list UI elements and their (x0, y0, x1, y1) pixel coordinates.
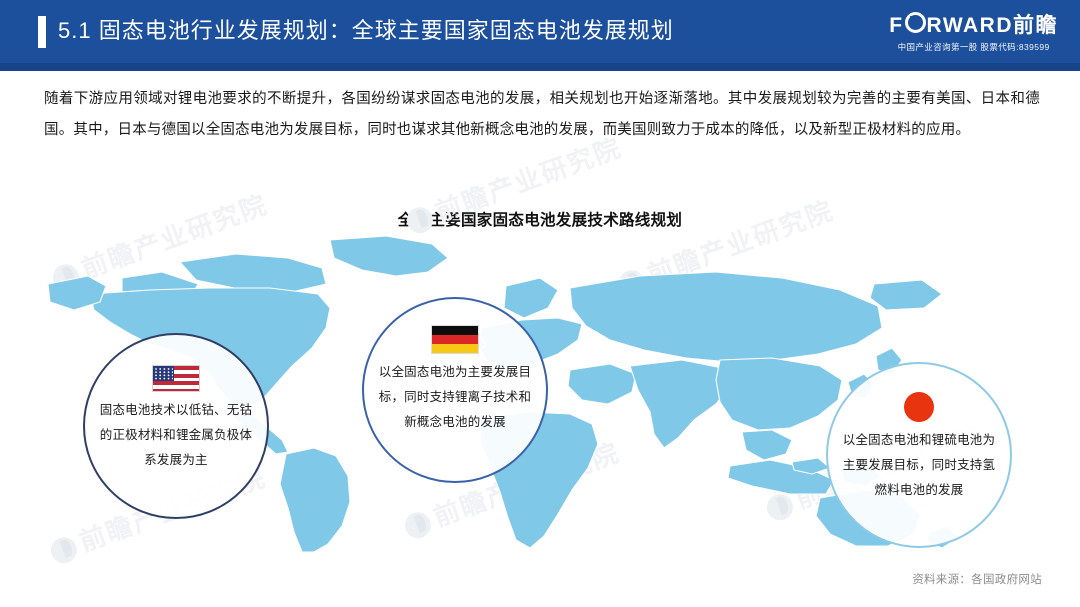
marker-bubble-us[interactable]: 固态电池技术以低钴、无钴的正极材料和锂金属负极体系发展为主 (83, 333, 269, 519)
us-flag-icon (152, 365, 200, 392)
logo-o-ring-icon (905, 12, 926, 33)
chart-title: 全球主要国家固态电池发展技术路线规划 (0, 208, 1080, 230)
logo-text-left: F (889, 14, 903, 37)
page-title: 5.1 固态电池行业发展规划：全球主要国家固态电池发展规划 (58, 14, 674, 48)
body-paragraph: 随着下游应用领域对锂电池要求的不断提升，各国纷纷谋求固态电池的发展，相关规划也开… (44, 84, 1040, 146)
logo-wordmark: FRWARD前瞻 (889, 12, 1058, 38)
slide-header: 5.1 固态电池行业发展规划：全球主要国家固态电池发展规划 FRWARD前瞻 中… (0, 0, 1080, 63)
marker-text-us: 固态电池技术以低钴、无钴的正极材料和锂金属负极体系发展为主 (98, 398, 255, 473)
japan-flag-icon (904, 392, 934, 422)
slide-page: 5.1 固态电池行业发展规划：全球主要国家固态电池发展规划 FRWARD前瞻 中… (0, 0, 1080, 607)
marker-bubble-de[interactable]: 以全固态电池为主要发展目标，同时支持锂离子技术和新概念电池的发展 (362, 297, 548, 483)
marker-text-de: 以全固态电池为主要发展目标，同时支持锂离子技术和新概念电池的发展 (377, 360, 534, 435)
logo-subtitle: 中国产业咨询第一股 股票代码:839599 (889, 41, 1058, 53)
logo-text-right: RWARD (927, 14, 1013, 37)
source-attribution: 资料来源：各国政府网站 (912, 571, 1042, 587)
header-underline (0, 63, 1080, 71)
marker-text-jp: 以全固态电池和锂硫电池为主要发展目标，同时支持氢燃料电池的发展 (841, 428, 998, 503)
germany-flag-icon (431, 325, 479, 354)
logo-text-cn: 前瞻 (1013, 14, 1058, 37)
title-accent-bar (38, 16, 46, 48)
forward-logo: FRWARD前瞻 中国产业咨询第一股 股票代码:839599 (889, 12, 1058, 53)
marker-bubble-jp[interactable]: 以全固态电池和锂硫电池为主要发展目标，同时支持氢燃料电池的发展 (826, 362, 1012, 548)
